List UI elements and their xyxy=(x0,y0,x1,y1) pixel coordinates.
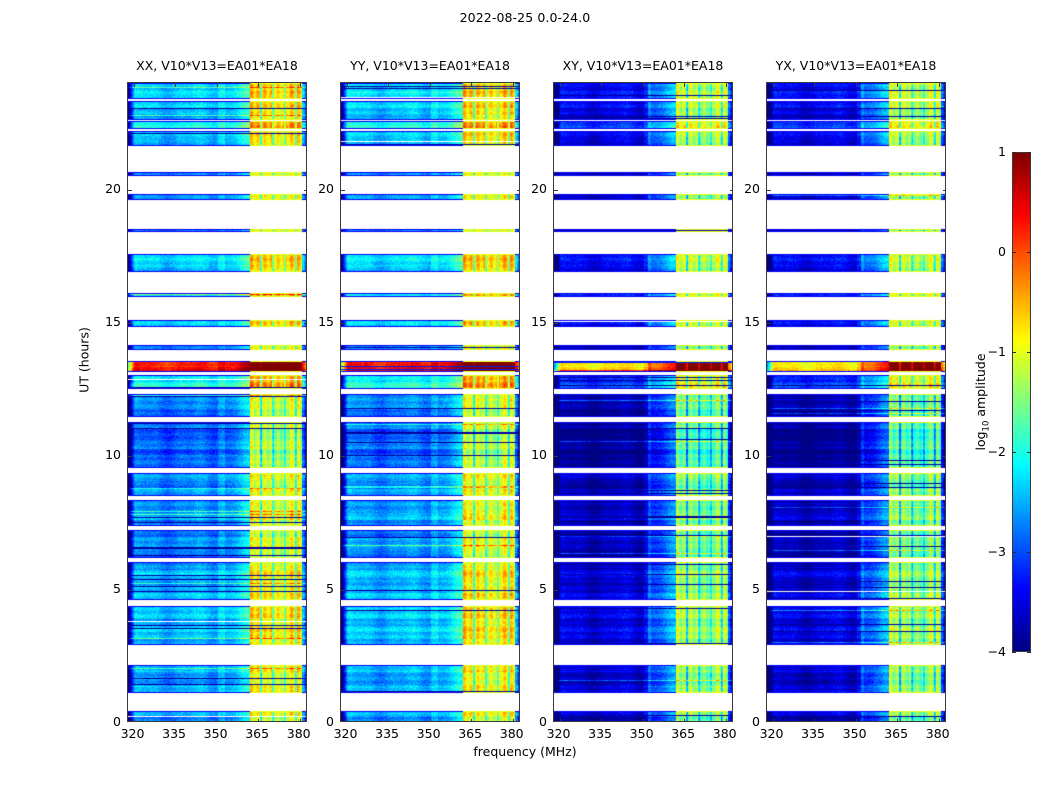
x-tick xyxy=(134,719,135,722)
heatmap-panel-yx xyxy=(766,82,946,722)
y-tick-label: 20 xyxy=(300,181,334,196)
y-tick-label: 0 xyxy=(87,714,121,729)
x-tick xyxy=(430,83,431,87)
colorbar-tick xyxy=(1012,552,1016,553)
colorbar xyxy=(1012,152,1031,652)
y-tick xyxy=(767,323,771,324)
y-tick xyxy=(943,590,946,591)
x-tick xyxy=(773,719,774,722)
y-tick xyxy=(341,323,345,324)
x-tick xyxy=(217,719,218,722)
colorbar-tick xyxy=(1027,552,1031,553)
panel-title-yx: YX, V10*V13=EA01*EA18 xyxy=(726,58,986,78)
y-tick xyxy=(943,323,946,324)
x-tick xyxy=(388,719,389,722)
y-tick xyxy=(767,590,771,591)
x-tick xyxy=(347,83,348,87)
x-tick xyxy=(773,83,774,87)
y-tick xyxy=(128,590,132,591)
y-tick-label: 10 xyxy=(513,447,547,462)
x-tick xyxy=(856,83,857,87)
colorbar-tick xyxy=(1027,452,1031,453)
x-tick xyxy=(643,719,644,722)
colorbar-tick-label: −2 xyxy=(972,444,1006,459)
x-tick xyxy=(175,719,176,722)
colorbar-tick-label: −3 xyxy=(972,544,1006,559)
x-tick xyxy=(814,83,815,87)
x-tick xyxy=(939,83,940,87)
y-tick xyxy=(128,190,132,191)
x-tick-label: 380 xyxy=(918,726,958,741)
x-tick xyxy=(513,83,514,87)
y-tick-label: 15 xyxy=(513,314,547,329)
y-tick-label: 0 xyxy=(726,714,760,729)
colorbar-tick xyxy=(1027,352,1031,353)
x-tick xyxy=(601,719,602,722)
colorbar-label-sub: 10 xyxy=(981,421,991,432)
y-tick xyxy=(128,323,132,324)
x-tick-label: 335 xyxy=(154,726,194,741)
x-tick xyxy=(134,83,135,87)
y-tick-label: 0 xyxy=(300,714,334,729)
y-tick-label: 5 xyxy=(513,581,547,596)
y-tick-label: 10 xyxy=(300,447,334,462)
y-tick-label: 20 xyxy=(87,181,121,196)
y-tick-label: 5 xyxy=(726,581,760,596)
colorbar-tick-label: −1 xyxy=(972,344,1006,359)
x-tick xyxy=(897,719,898,722)
colorbar-tick xyxy=(1012,152,1016,153)
x-tick-label: 350 xyxy=(835,726,875,741)
x-tick xyxy=(560,719,561,722)
x-tick-label: 335 xyxy=(793,726,833,741)
figure-suptitle: 2022-08-25 0.0-24.0 xyxy=(0,10,1050,25)
heatmap-image-yx xyxy=(767,83,946,722)
y-tick-label: 15 xyxy=(87,314,121,329)
colorbar-tick xyxy=(1012,652,1016,653)
y-tick-label: 15 xyxy=(726,314,760,329)
y-tick xyxy=(341,456,345,457)
x-tick xyxy=(388,83,389,87)
y-tick-label: 15 xyxy=(300,314,334,329)
x-tick xyxy=(560,83,561,87)
y-tick xyxy=(554,190,558,191)
y-tick xyxy=(341,590,345,591)
x-tick-label: 350 xyxy=(622,726,662,741)
x-tick-label: 350 xyxy=(196,726,236,741)
x-tick xyxy=(939,719,940,722)
x-tick xyxy=(471,719,472,722)
colorbar-tick-label: 1 xyxy=(972,144,1006,159)
heatmap-panel-yy xyxy=(340,82,520,722)
x-tick xyxy=(258,719,259,722)
x-tick xyxy=(684,83,685,87)
x-tick xyxy=(300,83,301,87)
y-tick-label: 10 xyxy=(726,447,760,462)
x-tick-label: 350 xyxy=(409,726,449,741)
colorbar-tick xyxy=(1012,352,1016,353)
colorbar-tick xyxy=(1027,652,1031,653)
x-tick-label: 335 xyxy=(367,726,407,741)
y-tick xyxy=(943,456,946,457)
y-tick xyxy=(554,323,558,324)
y-tick-label: 10 xyxy=(87,447,121,462)
colorbar-tick xyxy=(1027,152,1031,153)
x-tick xyxy=(684,719,685,722)
heatmap-image-yy xyxy=(341,83,520,722)
y-tick xyxy=(128,456,132,457)
y-tick-label: 5 xyxy=(300,581,334,596)
colorbar-tick-label: 0 xyxy=(972,244,1006,259)
x-tick xyxy=(347,719,348,722)
colorbar-tick xyxy=(1012,452,1016,453)
x-tick xyxy=(217,83,218,87)
y-tick xyxy=(554,456,558,457)
x-tick-label: 365 xyxy=(663,726,703,741)
y-tick xyxy=(767,190,771,191)
colorbar-tick-label: −4 xyxy=(972,644,1006,659)
y-tick xyxy=(554,590,558,591)
y-axis-label: UT (hours) xyxy=(77,327,92,393)
colorbar-label-post: amplitude xyxy=(973,353,988,420)
colorbar-label: log10 amplitude xyxy=(973,353,992,450)
x-tick-label: 335 xyxy=(580,726,620,741)
y-tick-label: 20 xyxy=(726,181,760,196)
x-tick xyxy=(430,719,431,722)
x-tick-label: 365 xyxy=(237,726,277,741)
y-tick-label: 0 xyxy=(513,714,547,729)
x-tick xyxy=(175,83,176,87)
heatmap-panel-xy xyxy=(553,82,733,722)
x-tick xyxy=(258,83,259,87)
heatmap-panel-xx xyxy=(127,82,307,722)
colorbar-tick xyxy=(1027,252,1031,253)
x-tick xyxy=(814,719,815,722)
x-tick xyxy=(643,83,644,87)
x-tick-label: 365 xyxy=(876,726,916,741)
y-tick-label: 20 xyxy=(513,181,547,196)
heatmap-image-xx xyxy=(128,83,307,722)
x-tick xyxy=(897,83,898,87)
x-tick xyxy=(856,719,857,722)
y-tick xyxy=(767,456,771,457)
colorbar-tick xyxy=(1012,252,1016,253)
y-tick xyxy=(943,190,946,191)
x-tick-label: 365 xyxy=(450,726,490,741)
figure-canvas: 2022-08-25 0.0-24.0 UT (hours) frequency… xyxy=(0,0,1050,800)
x-tick xyxy=(726,83,727,87)
colorbar-gradient xyxy=(1013,153,1030,651)
y-tick-label: 5 xyxy=(87,581,121,596)
heatmap-image-xy xyxy=(554,83,733,722)
x-axis-label: frequency (MHz) xyxy=(0,744,1050,759)
x-tick xyxy=(471,83,472,87)
x-tick xyxy=(601,83,602,87)
y-tick xyxy=(341,190,345,191)
